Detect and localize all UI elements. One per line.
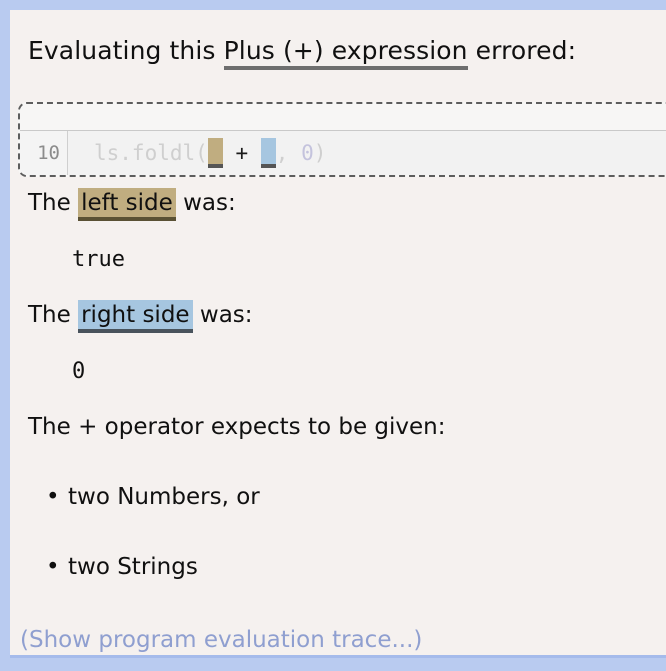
code-line-text: ls.foldl( + , 0) <box>68 131 666 175</box>
left-side-value: true <box>72 247 125 272</box>
code-operator: + <box>235 141 248 165</box>
left-side-label-line: The left side was: <box>28 190 236 216</box>
right-suffix: was: <box>193 302 253 328</box>
code-space-b <box>248 141 261 165</box>
code-line-row: 10 ls.foldl( + , 0) <box>20 131 666 175</box>
left-side-badge: left side <box>78 188 176 221</box>
list-item: •two Numbers, or <box>46 484 260 510</box>
right-side-badge: right side <box>78 300 192 333</box>
right-prefix: The <box>28 302 78 328</box>
heading-prefix: Evaluating this <box>28 36 224 65</box>
bottom-divider <box>10 655 666 658</box>
right-side-label-line: The right side was: <box>28 302 253 328</box>
error-panel: Evaluating this Plus (+) expression erro… <box>10 10 666 655</box>
page-title: Evaluating this Plus (+) expression erro… <box>10 10 666 65</box>
list-item-label: two Strings <box>68 554 198 580</box>
right-operand-swatch <box>261 138 276 168</box>
code-snippet-block: 10 ls.foldl( + , 0) <box>18 102 666 177</box>
code-suffix: , <box>276 141 301 165</box>
heading-suffix: errored: <box>468 36 577 65</box>
bullet-icon: • <box>46 554 68 580</box>
code-number-literal: 0 <box>301 141 314 165</box>
expectation-text: The + operator expects to be given: <box>28 414 446 440</box>
left-prefix: The <box>28 190 78 216</box>
expression-reference: Plus (+) expression <box>224 36 468 70</box>
line-number-gutter: 10 <box>20 131 68 175</box>
list-item: •two Strings <box>46 554 198 580</box>
left-operand-swatch <box>208 138 223 168</box>
right-side-value: 0 <box>72 359 85 384</box>
list-item-label: two Numbers, or <box>68 484 260 510</box>
code-block-header <box>20 104 666 131</box>
show-evaluation-trace-link[interactable]: (Show program evaluation trace...) <box>20 627 422 653</box>
code-prefix: ls.foldl( <box>94 141 208 165</box>
code-space-a <box>223 141 236 165</box>
code-closing-paren: ) <box>314 141 327 165</box>
bullet-icon: • <box>46 484 68 510</box>
left-suffix: was: <box>176 190 236 216</box>
